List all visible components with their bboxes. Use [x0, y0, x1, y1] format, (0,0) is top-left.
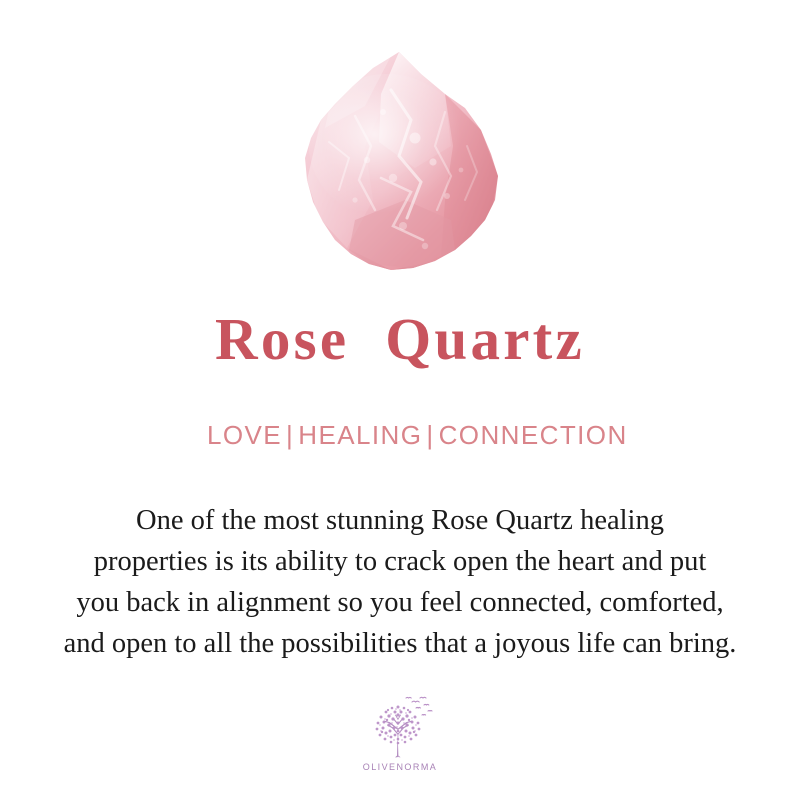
rose-quartz-crystal-icon: [295, 50, 505, 282]
brand-logo: OLIVENORMA: [340, 694, 460, 772]
olive-tree-with-birds-icon: [362, 694, 438, 760]
keyword-healing: HEALING: [298, 420, 422, 450]
rose-quartz-crystal-image: [295, 50, 505, 282]
keyword-separator-2: |: [422, 420, 438, 450]
keyword-separator-1: |: [282, 420, 298, 450]
description-line-3: you back in alignment so you feel connec…: [30, 582, 770, 623]
keyword-tagline: LOVE|HEALING|CONNECTION: [172, 396, 627, 474]
description-line-4: and open to all the possibilities that a…: [30, 623, 770, 664]
rose-quartz-product-card: Rose Quartz LOVE|HEALING|CONNECTION One …: [0, 0, 800, 800]
keyword-love: LOVE: [207, 420, 282, 450]
description-text: One of the most stunning Rose Quartz hea…: [30, 500, 770, 664]
brand-wordmark: OLIVENORMA: [363, 763, 437, 772]
hero-image-area: [0, 0, 800, 310]
keyword-connection: CONNECTION: [439, 420, 628, 450]
description-line-1: One of the most stunning Rose Quartz hea…: [30, 500, 770, 541]
description-line-2: properties is its ability to crack open …: [30, 541, 770, 582]
page-title: Rose Quartz: [215, 310, 585, 369]
